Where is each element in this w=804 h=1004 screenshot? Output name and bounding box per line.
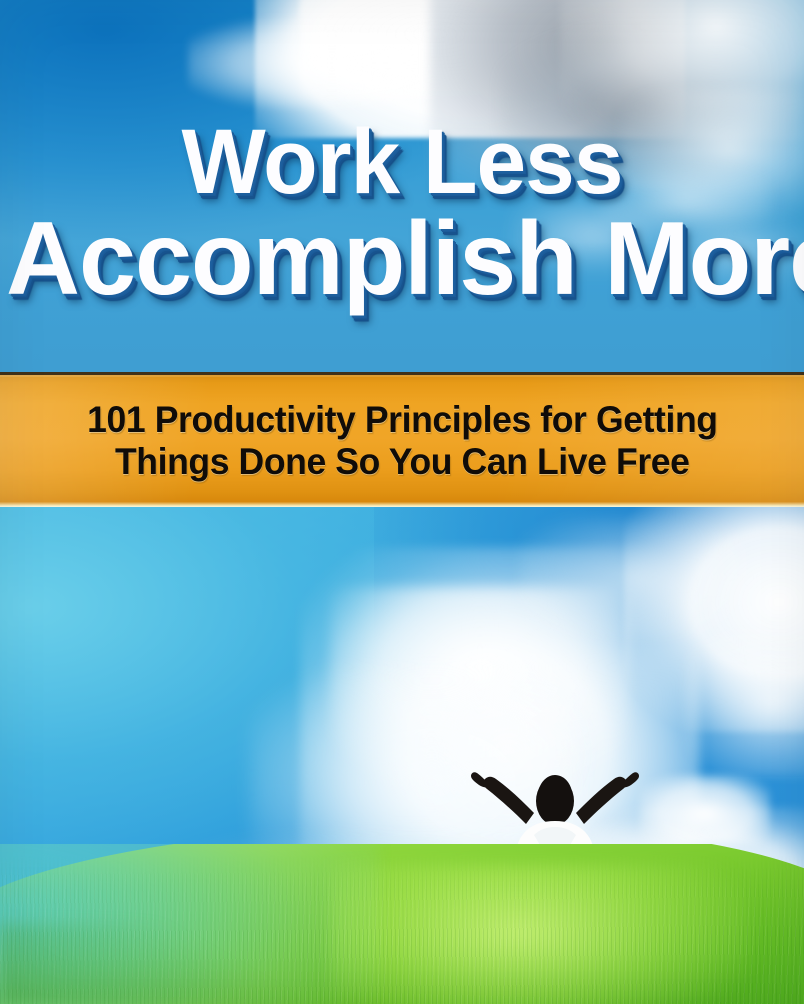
book-cover: Work Less Accomplish More 101 Productivi…	[0, 0, 804, 1004]
cloud-icon	[188, 18, 428, 108]
subtitle-line-2: Things Done So You Can Live Free	[115, 441, 690, 483]
subtitle-banner: 101 Productivity Principles for Getting …	[0, 372, 804, 507]
grass-left-shade	[0, 924, 300, 1004]
title-line-2: Accomplish More	[6, 210, 798, 310]
bottom-photo-scene	[0, 507, 804, 1004]
subtitle-line-1: 101 Productivity Principles for Getting	[87, 399, 717, 441]
grass-field-icon	[0, 844, 804, 1004]
cloud-icon	[684, 627, 804, 777]
title-line-1: Work Less	[12, 118, 792, 206]
cloud-icon	[520, 517, 750, 637]
cover-title: Work Less Accomplish More	[0, 118, 804, 310]
